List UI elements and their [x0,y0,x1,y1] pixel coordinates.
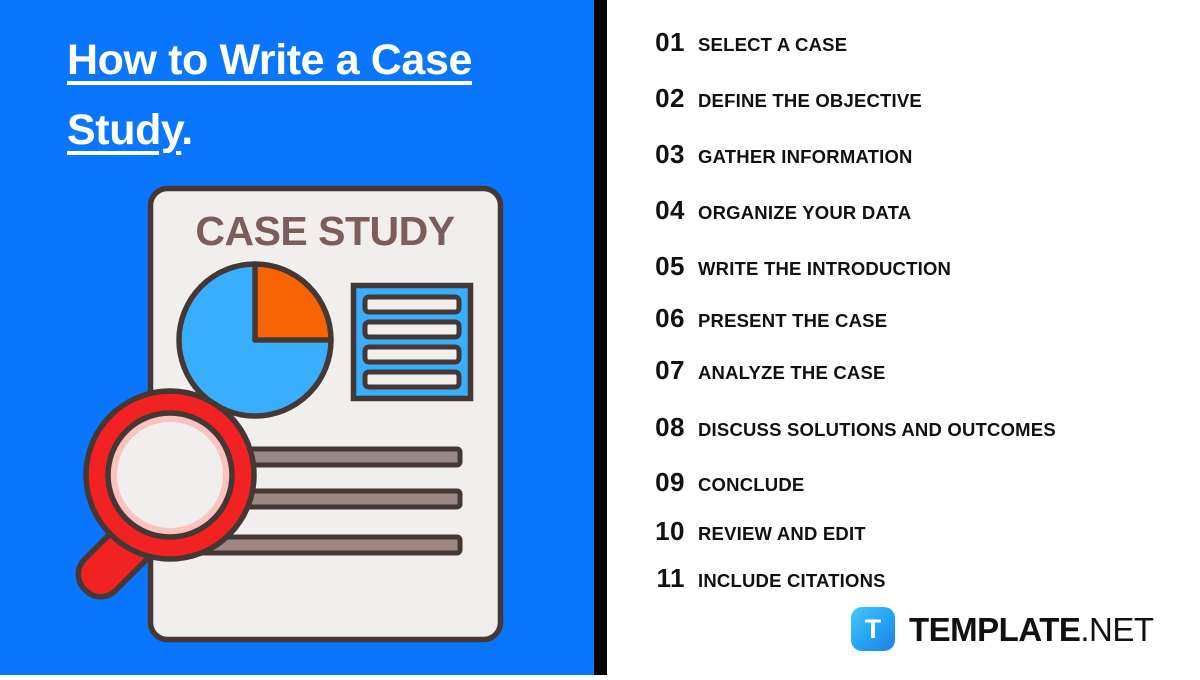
magnifier-lens [117,422,223,528]
step-label: DEFINE THE OBJECTIVE [698,90,922,112]
step-label: WRITE THE INTRODUCTION [698,258,951,280]
step-number: 07 [607,355,685,386]
list-item[interactable]: 07 ANALYZE THE CASE [607,355,886,383]
step-label: GATHER INFORMATION [698,146,913,168]
logo-mark-icon: T [851,607,895,651]
title-period: . [181,106,193,154]
step-number: 09 [607,467,685,498]
step-number: 10 [607,516,685,547]
step-label: PRESENT THE CASE [698,310,887,332]
list-item[interactable]: 01 SELECT A CASE [607,27,847,55]
document-heading: CASE STUDY [195,208,454,254]
step-label: ANALYZE THE CASE [698,362,886,384]
list-item[interactable]: 11 INCLUDE CITATIONS [607,563,886,591]
logo-letter: T [851,607,895,651]
step-number: 05 [607,251,685,282]
text-block-row [365,372,459,387]
list-item[interactable]: 05 WRITE THE INTRODUCTION [607,251,951,279]
list-item[interactable]: 09 CONCLUDE [607,467,804,495]
text-block-row [365,322,459,337]
list-item[interactable]: 10 REVIEW AND EDIT [607,516,866,544]
case-study-illustration: CASE STUDY [60,175,530,675]
list-item[interactable]: 08 DISCUSS SOLUTIONS AND OUTCOMES [607,412,1056,440]
step-number: 03 [607,139,685,170]
step-number: 06 [607,303,685,334]
list-item[interactable]: 06 PRESENT THE CASE [607,303,887,331]
right-white-panel: 01 SELECT A CASE 02 DEFINE THE OBJECTIVE… [607,0,1200,675]
text-block-row [365,297,459,312]
step-number: 01 [607,27,685,58]
step-number: 02 [607,83,685,114]
text-block-row [365,347,459,362]
page-title: How to Write a Case Study. [67,26,587,165]
logo-wordmark: TEMPLATE.NET [909,613,1154,646]
step-label: REVIEW AND EDIT [698,523,866,545]
infographic-canvas: How to Write a Case Study. CASE STUDY [0,0,1200,675]
list-item[interactable]: 04 ORGANIZE YOUR DATA [607,195,911,223]
step-label: ORGANIZE YOUR DATA [698,202,911,224]
list-item[interactable]: 03 GATHER INFORMATION [607,139,913,167]
case-study-svg: CASE STUDY [60,175,530,675]
step-number: 08 [607,412,685,443]
step-number: 04 [607,195,685,226]
step-number: 11 [607,563,685,594]
template-net-logo[interactable]: T TEMPLATE.NET [851,607,1154,651]
vertical-divider [594,0,607,675]
step-label: INCLUDE CITATIONS [698,570,886,592]
logo-bold-part: TEMPLATE [909,611,1080,648]
step-label: DISCUSS SOLUTIONS AND OUTCOMES [698,419,1056,441]
logo-light-part: .NET [1080,611,1153,648]
list-item[interactable]: 02 DEFINE THE OBJECTIVE [607,83,922,111]
title-line-2: Study [67,106,181,154]
step-label: SELECT A CASE [698,34,847,56]
step-label: CONCLUDE [698,474,804,496]
title-line-1: How to Write a Case [67,36,472,84]
